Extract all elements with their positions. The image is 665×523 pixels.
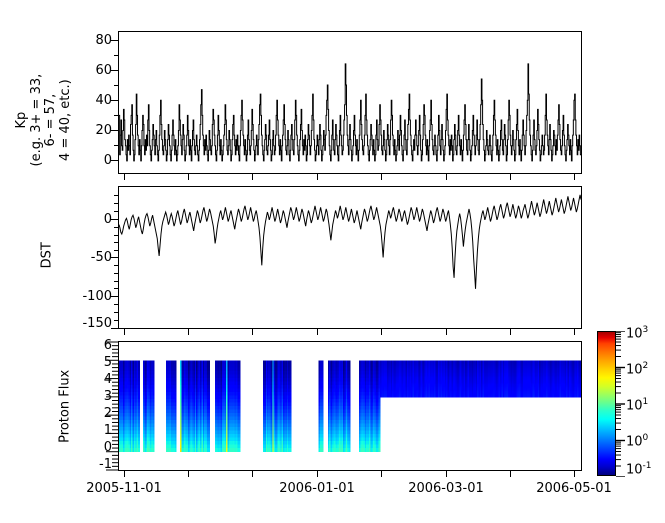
dst-ytick-minor	[114, 203, 118, 204]
colorbar-tick-label-1e0: 100	[626, 433, 648, 449]
colorbar-tick-label-1e1: 101	[626, 397, 648, 413]
colorbar-tick-label-1e3: 103	[626, 325, 648, 341]
dst-xtick-major	[124, 329, 125, 335]
pf-xtick-major	[510, 471, 511, 477]
kp-axis-label-line-2: (e.g. 3+ = 33,	[29, 50, 44, 190]
kp-ytick-minor	[114, 145, 118, 146]
dst-ytick-minor	[114, 273, 118, 274]
kp-ytick-label-80: 80	[72, 33, 112, 48]
cb-exponent: 0	[643, 433, 649, 443]
pf-xtick-major	[188, 471, 189, 477]
kp-xtick-major	[124, 174, 125, 180]
cb-mantissa: 10	[626, 362, 643, 377]
dst-ytick-minor	[114, 195, 118, 196]
kp-axis-label-line-1: Kp	[15, 50, 30, 190]
dst-xtick-major	[252, 329, 253, 335]
figure-canvas: Kp (e.g. 3+ = 33, 6- = 57, 4 = 40, etc.)…	[0, 0, 665, 523]
dst-axis-label: DST	[41, 225, 56, 285]
kp-xtick-major	[381, 174, 382, 180]
kp-xtick-major	[446, 174, 447, 180]
kp-xtick-major	[574, 174, 575, 180]
dst-ytick-minor	[114, 288, 118, 289]
dst-ytick-minor	[114, 227, 118, 228]
colorbar-tick-label-1e2: 102	[626, 361, 648, 377]
dst-ytick-label-100: -100	[62, 289, 112, 304]
pf-xtick-major	[381, 471, 382, 477]
dst-ytick-minor	[114, 250, 118, 251]
colorbar	[597, 331, 616, 476]
dst-ytick-major	[111, 257, 118, 258]
cb-exponent: 2	[643, 361, 649, 371]
dst-ytick-major	[111, 296, 118, 297]
kp-xtick-major	[252, 174, 253, 180]
pf-xtick-major	[574, 471, 575, 477]
dst-ytick-minor	[114, 265, 118, 266]
dst-ytick-minor	[114, 312, 118, 313]
cb-mantissa: 10	[626, 326, 643, 341]
dst-xtick-major	[574, 329, 575, 335]
dst-ytick-label-150: -150	[62, 316, 112, 331]
kp-ytick-minor	[114, 115, 118, 116]
dst-xtick-major	[446, 329, 447, 335]
kp-ytick-major	[111, 40, 118, 41]
colorbar-tick-label-1em1: 10-1	[626, 461, 652, 477]
dst-ytick-minor	[114, 320, 118, 321]
kp-ytick-label-20: 20	[72, 123, 112, 138]
dst-xtick-major	[188, 329, 189, 335]
kp-ytick-major	[111, 70, 118, 71]
dst-xtick-major	[510, 329, 511, 335]
cb-mantissa: 10	[626, 434, 643, 449]
kp-ytick-minor	[114, 55, 118, 56]
xtick-label-1: 2005-11-01	[74, 481, 174, 496]
kp-ytick-major	[111, 160, 118, 161]
kp-ytick-label-0: 0	[72, 153, 112, 168]
cb-mantissa: 10	[626, 398, 643, 413]
dst-ytick-minor	[114, 304, 118, 305]
dst-ytick-minor	[114, 235, 118, 236]
proton-flux-ticks	[106, 341, 119, 471]
kp-axis-label: Kp (e.g. 3+ = 33, 6- = 57, 4 = 40, etc.)	[15, 50, 73, 190]
dst-ytick-major	[111, 328, 118, 329]
pf-xtick-major	[317, 471, 318, 477]
kp-xtick-major	[510, 174, 511, 180]
dst-series-plot	[119, 187, 581, 328]
xtick-label-4: 2006-05-01	[524, 481, 624, 496]
colorbar-ticks	[616, 331, 626, 477]
kp-ytick-minor	[114, 85, 118, 86]
kp-ytick-label-60: 60	[72, 63, 112, 78]
kp-ytick-major	[111, 100, 118, 101]
xtick-label-2: 2006-01-01	[267, 481, 367, 496]
pf-xtick-major	[124, 471, 125, 477]
dst-ytick-label-50: -50	[62, 250, 112, 265]
kp-axis-label-line-3: 6- = 57,	[44, 50, 59, 190]
cb-exponent: 1	[643, 397, 649, 407]
dst-xtick-major	[317, 329, 318, 335]
cb-mantissa: 10	[626, 462, 643, 477]
kp-ytick-label-40: 40	[72, 93, 112, 108]
dst-ytick-minor	[114, 281, 118, 282]
colorbar-gradient	[598, 332, 615, 475]
dst-ytick-minor	[114, 211, 118, 212]
dst-ytick-minor	[114, 242, 118, 243]
kp-axis-label-line-4: 4 = 40, etc.)	[59, 50, 74, 190]
cb-exponent: 3	[643, 325, 649, 335]
proton-flux-spectrogram	[119, 342, 581, 470]
kp-series-plot	[119, 32, 581, 173]
dst-ytick-label-0: 0	[62, 212, 112, 227]
proton-flux-axis-label: Proton Flux	[59, 351, 74, 461]
dst-xtick-major	[381, 329, 382, 335]
pf-xtick-major	[252, 471, 253, 477]
cb-exponent: -1	[643, 461, 652, 471]
kp-xtick-major	[188, 174, 189, 180]
dst-ytick-major	[111, 219, 118, 220]
kp-xtick-major	[317, 174, 318, 180]
xtick-label-3: 2006-03-01	[396, 481, 496, 496]
pf-xtick-major	[446, 471, 447, 477]
kp-ytick-major	[111, 130, 118, 131]
